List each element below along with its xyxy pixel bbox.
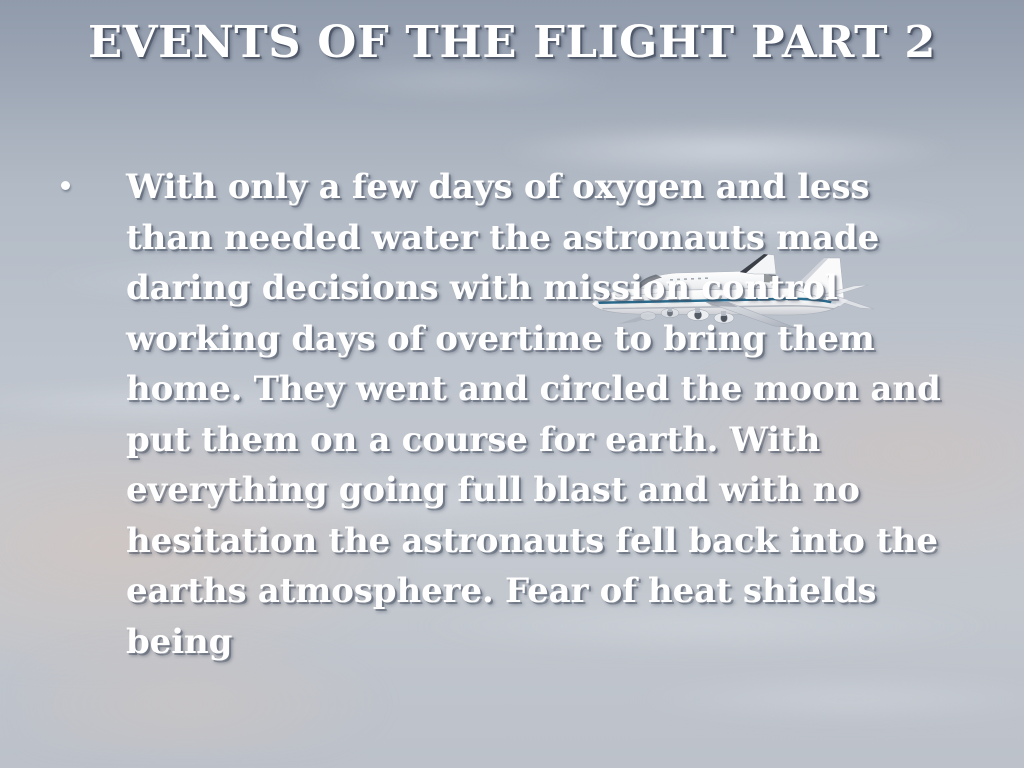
bullet-list: With only a few days of oxygen and less …	[50, 162, 950, 667]
slide-title: EVENTS OF THE FLIGHT PART 2	[0, 19, 1024, 67]
bullet-marker-icon	[61, 181, 70, 190]
presentation-slide: EVENTS OF THE FLIGHT PART 2 With only a …	[0, 0, 1024, 768]
bullet-item-text: With only a few days of oxygen and less …	[126, 162, 950, 667]
